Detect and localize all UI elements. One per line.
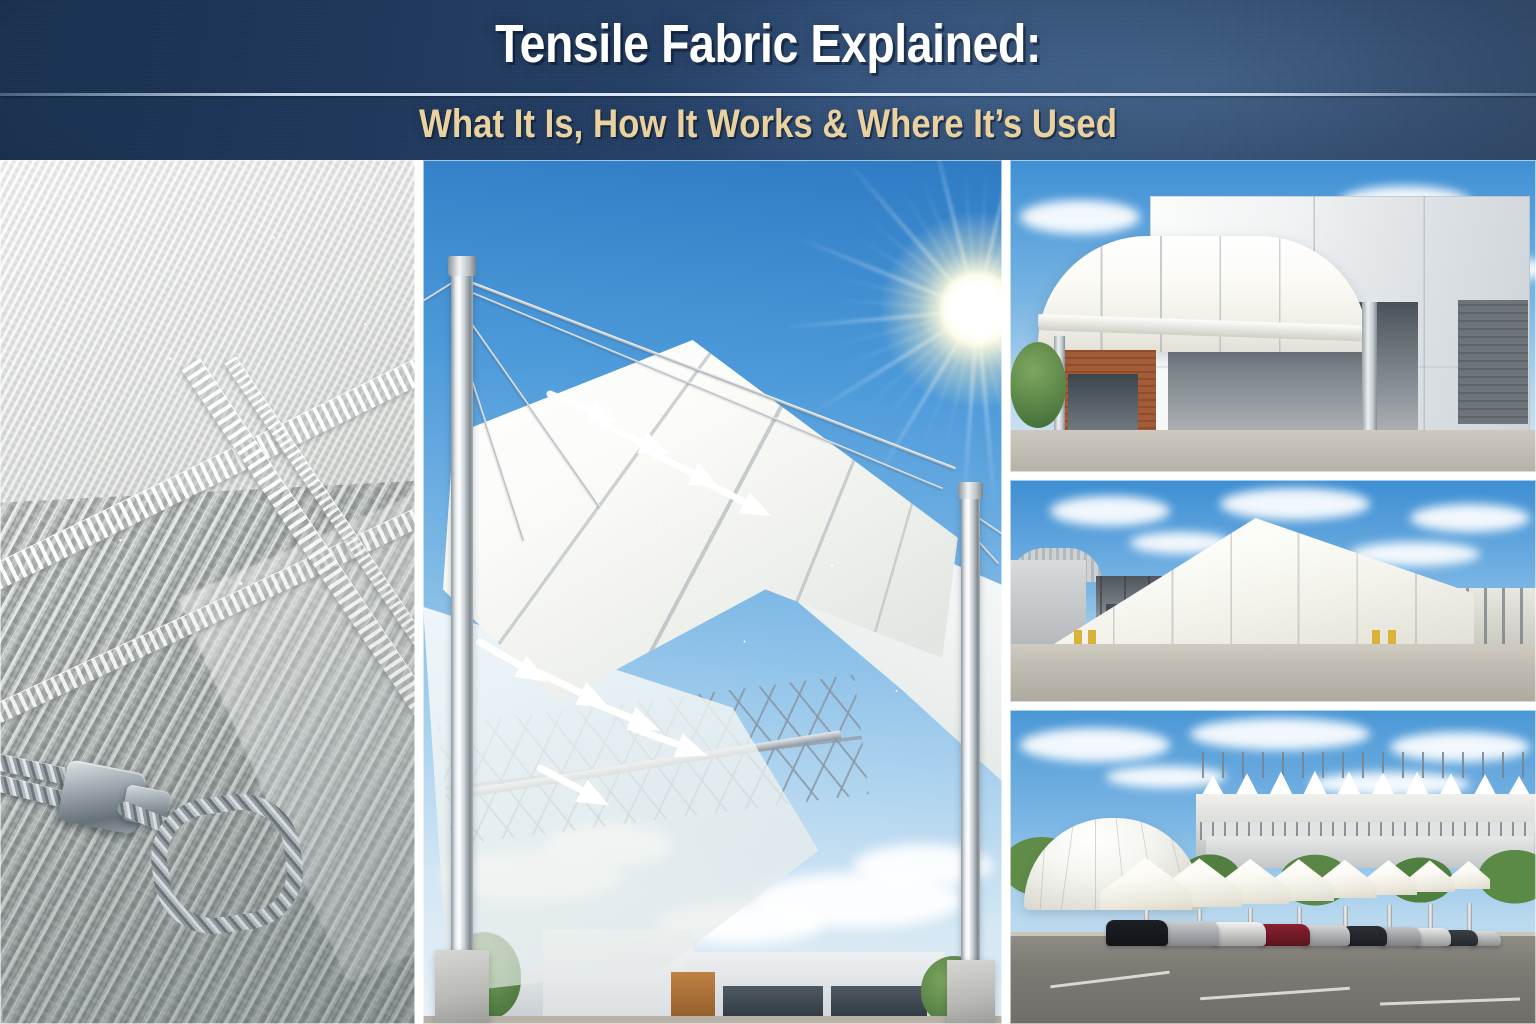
stadium-mast bbox=[1362, 752, 1364, 778]
image-collage bbox=[0, 160, 1536, 1024]
stadium-mast bbox=[1222, 752, 1224, 778]
infographic-page: Tensile Fabric Explained: What It Is, Ho… bbox=[0, 0, 1536, 1024]
support-column bbox=[1362, 302, 1377, 448]
panel-hypar-canopy bbox=[423, 160, 1002, 1024]
steel-mast bbox=[451, 265, 473, 1023]
cloud bbox=[1020, 200, 1140, 234]
parked-car bbox=[1106, 920, 1168, 946]
stadium-mast bbox=[1402, 752, 1404, 778]
concrete-yard bbox=[1010, 644, 1536, 702]
stadium-mast bbox=[1442, 752, 1444, 778]
steel-mast bbox=[961, 490, 980, 1023]
stadium-mast bbox=[1202, 752, 1204, 778]
panel-fabric-closeup bbox=[0, 160, 415, 1024]
stadium-mast bbox=[1322, 752, 1324, 778]
cloud bbox=[1220, 488, 1370, 520]
panel-gabled-warehouse bbox=[1010, 480, 1536, 702]
mast-cap bbox=[448, 256, 476, 276]
stadium-mast bbox=[1522, 752, 1524, 778]
stadium-mast bbox=[1282, 752, 1284, 778]
header-divider bbox=[0, 93, 1536, 96]
tree bbox=[1010, 342, 1066, 428]
cloud bbox=[1410, 504, 1530, 532]
carport-canopy bbox=[1100, 858, 1192, 910]
entrance-glazing bbox=[1068, 374, 1138, 430]
cloud bbox=[1050, 496, 1170, 526]
ground-plane bbox=[423, 1016, 1002, 1024]
page-title: Tensile Fabric Explained: bbox=[108, 17, 1429, 71]
carport-canopy-row bbox=[1100, 850, 1536, 910]
stadium-mast bbox=[1422, 752, 1424, 778]
cloud bbox=[1020, 728, 1170, 762]
forecourt-paving bbox=[1010, 430, 1536, 472]
cloud bbox=[1390, 732, 1530, 762]
page-subtitle: What It Is, How It Works & Where It’s Us… bbox=[100, 104, 1436, 144]
roller-shutter-door bbox=[1458, 300, 1528, 424]
parked-car bbox=[1211, 922, 1266, 946]
stadium-mast bbox=[1242, 752, 1244, 778]
mast-cap bbox=[958, 482, 983, 499]
header-banner: Tensile Fabric Explained: What It Is, Ho… bbox=[0, 0, 1536, 160]
parked-car bbox=[1160, 921, 1219, 946]
stadium-mast bbox=[1502, 752, 1504, 778]
cloud bbox=[1190, 718, 1370, 750]
stadium-mast bbox=[1302, 752, 1304, 778]
panel-arched-loading-bay bbox=[1010, 160, 1536, 472]
mast-base bbox=[947, 960, 995, 1024]
panel-carport-canopies bbox=[1010, 710, 1536, 1024]
stadium-mast bbox=[1482, 752, 1484, 778]
stadium-mast bbox=[1262, 752, 1264, 778]
stadium-mast bbox=[1342, 752, 1344, 778]
mast-base bbox=[435, 950, 489, 1024]
stadium-mast bbox=[1462, 752, 1464, 778]
